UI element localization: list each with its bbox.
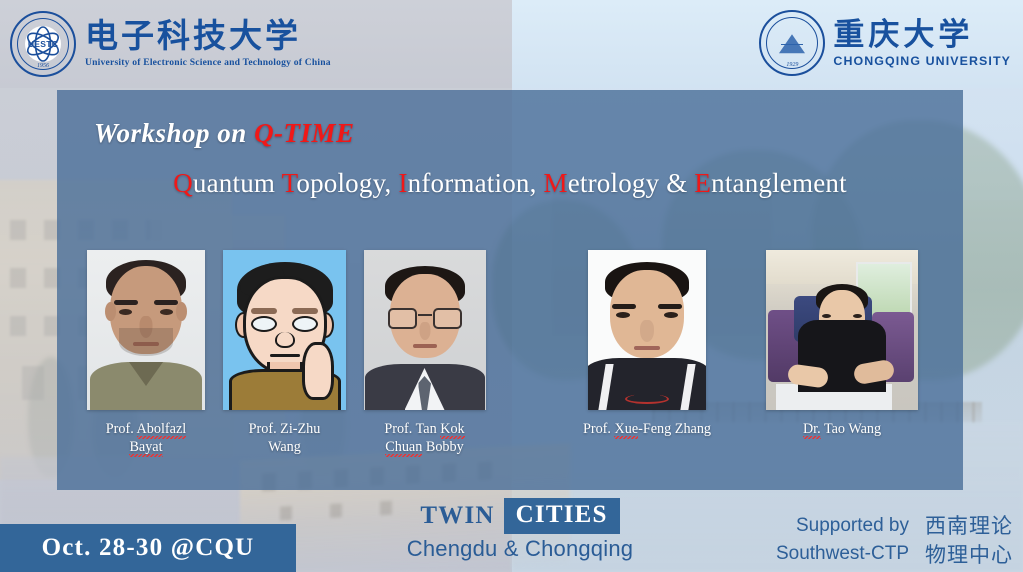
speaker-name-part: Kok [440,421,464,439]
date-banner: Oct. 28-30 @CQU [0,524,296,572]
date-text: Oct. 28-30 @CQU [42,534,255,562]
support-cn-line-2: 物理中心 [925,541,1013,570]
cqu-logo: 1929 重庆大学 CHONGQING UNIVERSITY [759,10,1011,76]
speaker-name-zi-zhu-wang: Prof. Zi-Zhu Wang [249,421,321,457]
support-block: Supported by Southwest-CTP 西南理论 物理中心 [776,512,1013,571]
workshop-title-acronym: Q-TIME [254,118,355,148]
speaker-name-tan: Prof. Tan Kok Chuan Bobby [384,421,464,457]
speaker-name-part: Bayat [129,439,162,457]
support-chinese: 西南理论 物理中心 [925,512,1013,571]
twin-label: TWIN [420,502,503,530]
speaker-name-line1: Prof. Zi-Zhu [249,421,321,437]
subtitle-initial-t: T [282,168,297,198]
speakers-row: Prof. Abolfazl Bayat Prof. Zi-Zhu W [57,250,963,480]
speaker-name-part: Abolfazl [137,421,187,439]
speaker-name-bayat: Prof. Abolfazl Bayat [106,421,186,457]
portrait-photo-bayat [87,250,205,410]
twin-cities-block: TWIN CITIES Chengdu & Chongqing [390,498,650,562]
uestc-chinese-name: 电子科技大学 [85,21,331,54]
subtitle-word-entanglement: ntanglement [711,168,847,198]
cqu-seal-year: 1929 [761,62,823,68]
speaker-zi-zhu-wang[interactable]: Prof. Zi-Zhu Wang [217,250,352,457]
subtitle-word-topology: opology, [296,168,398,198]
portrait-photo-tao-wang [766,250,918,410]
subtitle-initial-q: Q [173,168,193,198]
subtitle-word-information: nformation, [408,168,544,198]
speaker-name-tao-wang: Dr. Tao Wang [803,421,881,439]
support-cn-line-1: 西南理论 [925,512,1013,541]
subtitle-word-metrology: etrology & [568,168,695,198]
workshop-subtitle: Quantum Topology, Information, Metrology… [57,168,963,199]
speaker-tan-kok-chuan-bobby[interactable]: Prof. Tan Kok Chuan Bobby [357,250,492,457]
uestc-logo: UESTC 1956 电子科技大学 University of Electron… [10,11,331,77]
speaker-name-zhang: Prof. Xue-Feng Zhang [583,421,711,439]
workshop-title-prefix: Workshop on [94,118,254,148]
uestc-seal-year: 1956 [12,63,74,69]
cities-label: CITIES [504,498,620,534]
portrait-photo-zhang [588,250,706,410]
workshop-title: Workshop on Q-TIME [94,118,355,149]
workshop-poster: UESTC 1956 电子科技大学 University of Electron… [0,0,1023,572]
support-line-1: Supported by [776,512,909,540]
speaker-tao-wang[interactable]: Dr. Tao Wang [747,250,937,439]
subtitle-initial-m: M [544,168,568,198]
subtitle-word-quantum: uantum [193,168,282,198]
subtitle-initial-e: E [694,168,711,198]
speaker-name-part: Xue [614,421,638,439]
speaker-name-line2: Wang [268,439,301,455]
support-line-2: Southwest-CTP [776,540,909,568]
main-panel: Workshop on Q-TIME Quantum Topology, Inf… [57,90,963,490]
cities-subtitle: Chengdu & Chongqing [390,536,650,562]
speaker-abolfazl-bayat[interactable]: Prof. Abolfazl Bayat [81,250,211,457]
cqu-chinese-name: 重庆大学 [833,19,1011,50]
support-english: Supported by Southwest-CTP [776,512,909,567]
speaker-name-part: Chuan [385,439,422,457]
cqu-seal-icon: 1929 [759,10,825,76]
speaker-xue-feng-zhang[interactable]: Prof. Xue-Feng Zhang [557,250,737,439]
uestc-english-name: University of Electronic Science and Tec… [85,57,331,68]
uestc-seal-icon: UESTC 1956 [10,11,76,77]
portrait-photo-tan [364,250,486,410]
cartoon-avatar-wang [223,250,346,410]
speaker-name-part: Dr. [803,421,821,439]
cqu-english-name: CHONGQING UNIVERSITY [833,54,1011,68]
subtitle-initial-i: I [398,168,407,198]
